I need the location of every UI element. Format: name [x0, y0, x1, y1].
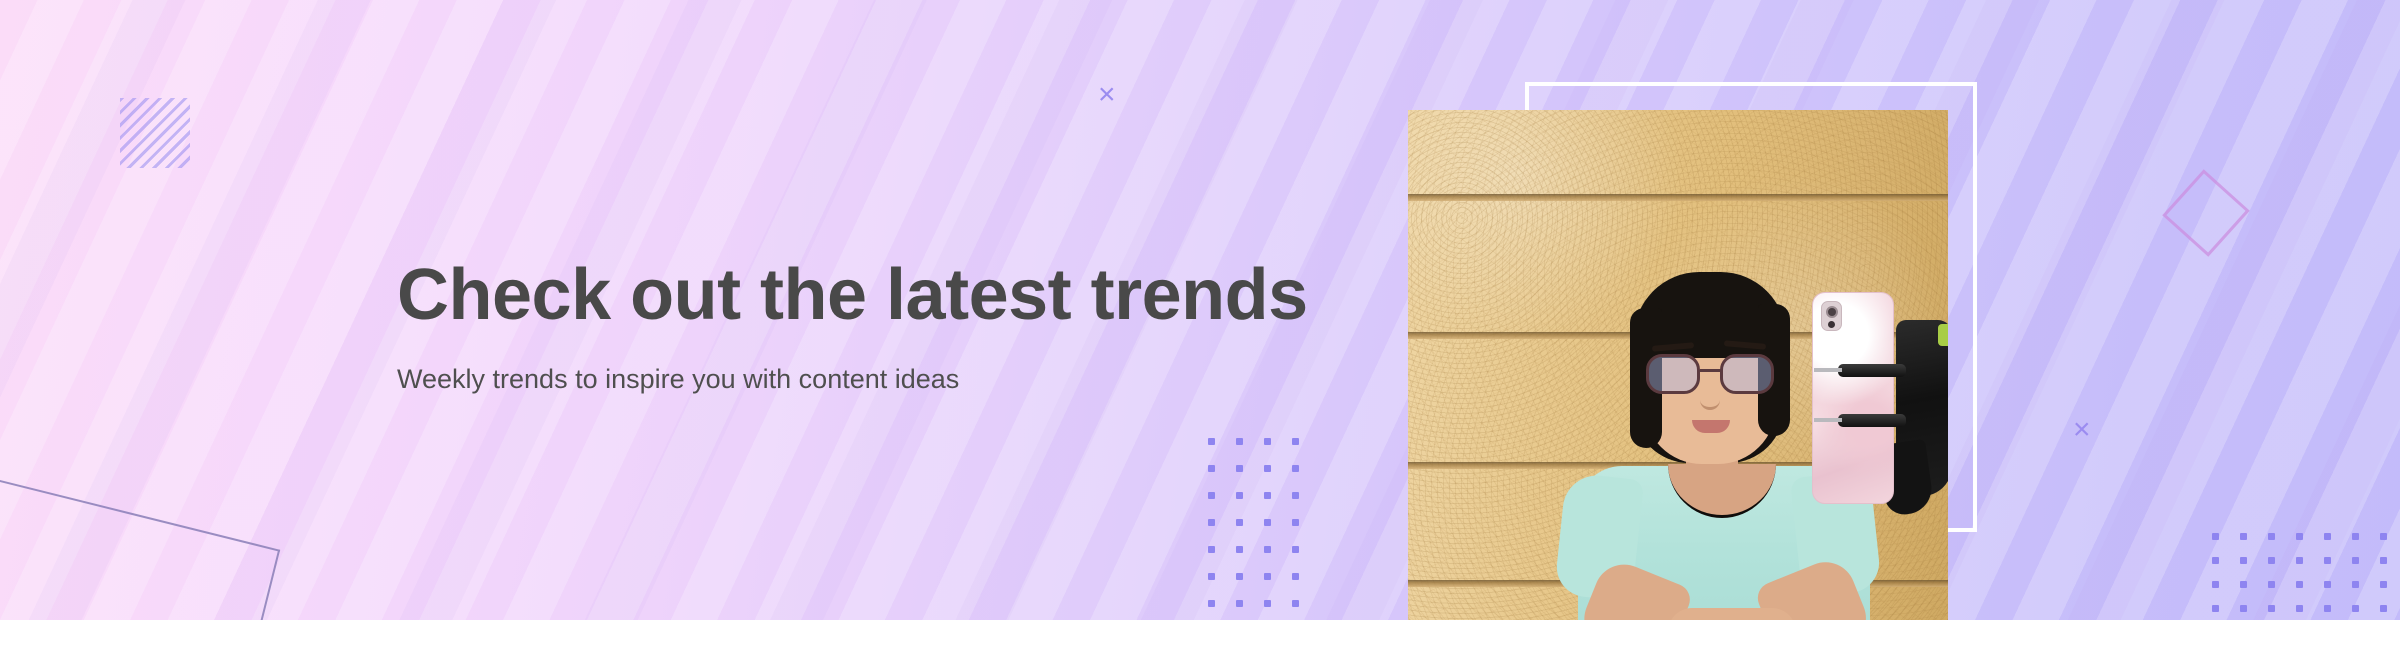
dot [1264, 438, 1271, 445]
dot [1264, 519, 1271, 526]
x-mark-glyph: × [1098, 78, 1116, 111]
phone-clamp-bottom [1838, 414, 1906, 427]
dot [1292, 573, 1299, 580]
dot [2296, 581, 2303, 588]
dot [2240, 557, 2247, 564]
dot [2380, 533, 2387, 540]
eyeglasses-icon [1644, 354, 1778, 394]
dot [1208, 546, 1215, 553]
page-title: Check out the latest trends [397, 258, 1297, 334]
dot [1236, 465, 1243, 472]
dot [1292, 519, 1299, 526]
wall-siding-line [1408, 194, 1948, 201]
dot [2212, 605, 2219, 612]
lens-right [1720, 354, 1774, 394]
dot [2380, 557, 2387, 564]
dot [2212, 533, 2219, 540]
dot [2296, 557, 2303, 564]
page-base [0, 620, 2400, 650]
dot [2352, 533, 2359, 540]
dot [1264, 465, 1271, 472]
lens-left [1646, 354, 1700, 394]
dot [1264, 492, 1271, 499]
dot [1236, 600, 1243, 607]
camera-lens-icon [1826, 306, 1838, 318]
dot [1208, 465, 1215, 472]
dot [2296, 533, 2303, 540]
dot [2352, 581, 2359, 588]
hero-photo: vitamin sea [1408, 110, 1948, 620]
dot [2324, 581, 2331, 588]
page-subtitle: Weekly trends to inspire you with conten… [397, 362, 1297, 397]
dot [2268, 557, 2275, 564]
dot [1236, 573, 1243, 580]
dot [1208, 438, 1215, 445]
dot [1236, 546, 1243, 553]
dot [2324, 605, 2331, 612]
dot [1208, 573, 1215, 580]
dot [2380, 605, 2387, 612]
dot [2296, 605, 2303, 612]
dot [1292, 492, 1299, 499]
dot [2212, 557, 2219, 564]
dot [1236, 438, 1243, 445]
phone-tripod-rig [1812, 292, 1948, 552]
phone-clamp-top [1838, 364, 1906, 377]
dot [1292, 600, 1299, 607]
dot [2324, 557, 2331, 564]
dot [2352, 605, 2359, 612]
dot [1208, 519, 1215, 526]
dot [1292, 438, 1299, 445]
camera-flash-icon [1828, 321, 1835, 328]
dot [2212, 581, 2219, 588]
dot [1208, 492, 1215, 499]
dot [2268, 533, 2275, 540]
dot [2352, 557, 2359, 564]
dot [2380, 581, 2387, 588]
hands [1668, 608, 1796, 620]
dot [2324, 533, 2331, 540]
dot [1236, 519, 1243, 526]
camera-module-icon [1821, 301, 1842, 331]
dot [2268, 581, 2275, 588]
dot [2240, 581, 2247, 588]
smartphone-marble-case [1812, 292, 1894, 504]
dot [1264, 600, 1271, 607]
dot [2240, 605, 2247, 612]
dot [2240, 533, 2247, 540]
nose [1700, 390, 1720, 410]
angle-line-decoration [0, 470, 280, 620]
x-mark-icon-right: × [2073, 415, 2091, 446]
dot [1292, 546, 1299, 553]
dot-grid-left-decoration [1208, 438, 1299, 620]
mount-indicator [1938, 324, 1948, 346]
dot [1264, 573, 1271, 580]
x-mark-glyph-right: × [2073, 413, 2091, 446]
striped-square-decoration [120, 98, 190, 168]
hero-copy: Check out the latest trends Weekly trend… [397, 258, 1297, 397]
dot [1208, 600, 1215, 607]
hero-banner: × × Check out the latest trends Weekly t… [0, 0, 2400, 620]
diamond-outline-decoration [2162, 169, 2250, 257]
glasses-bridge [1700, 369, 1722, 372]
dot [1264, 546, 1271, 553]
dot-grid-right-decoration [2212, 533, 2400, 612]
x-mark-icon: × [1098, 80, 1116, 110]
dot [1292, 465, 1299, 472]
dot [1236, 492, 1243, 499]
dot [2268, 605, 2275, 612]
